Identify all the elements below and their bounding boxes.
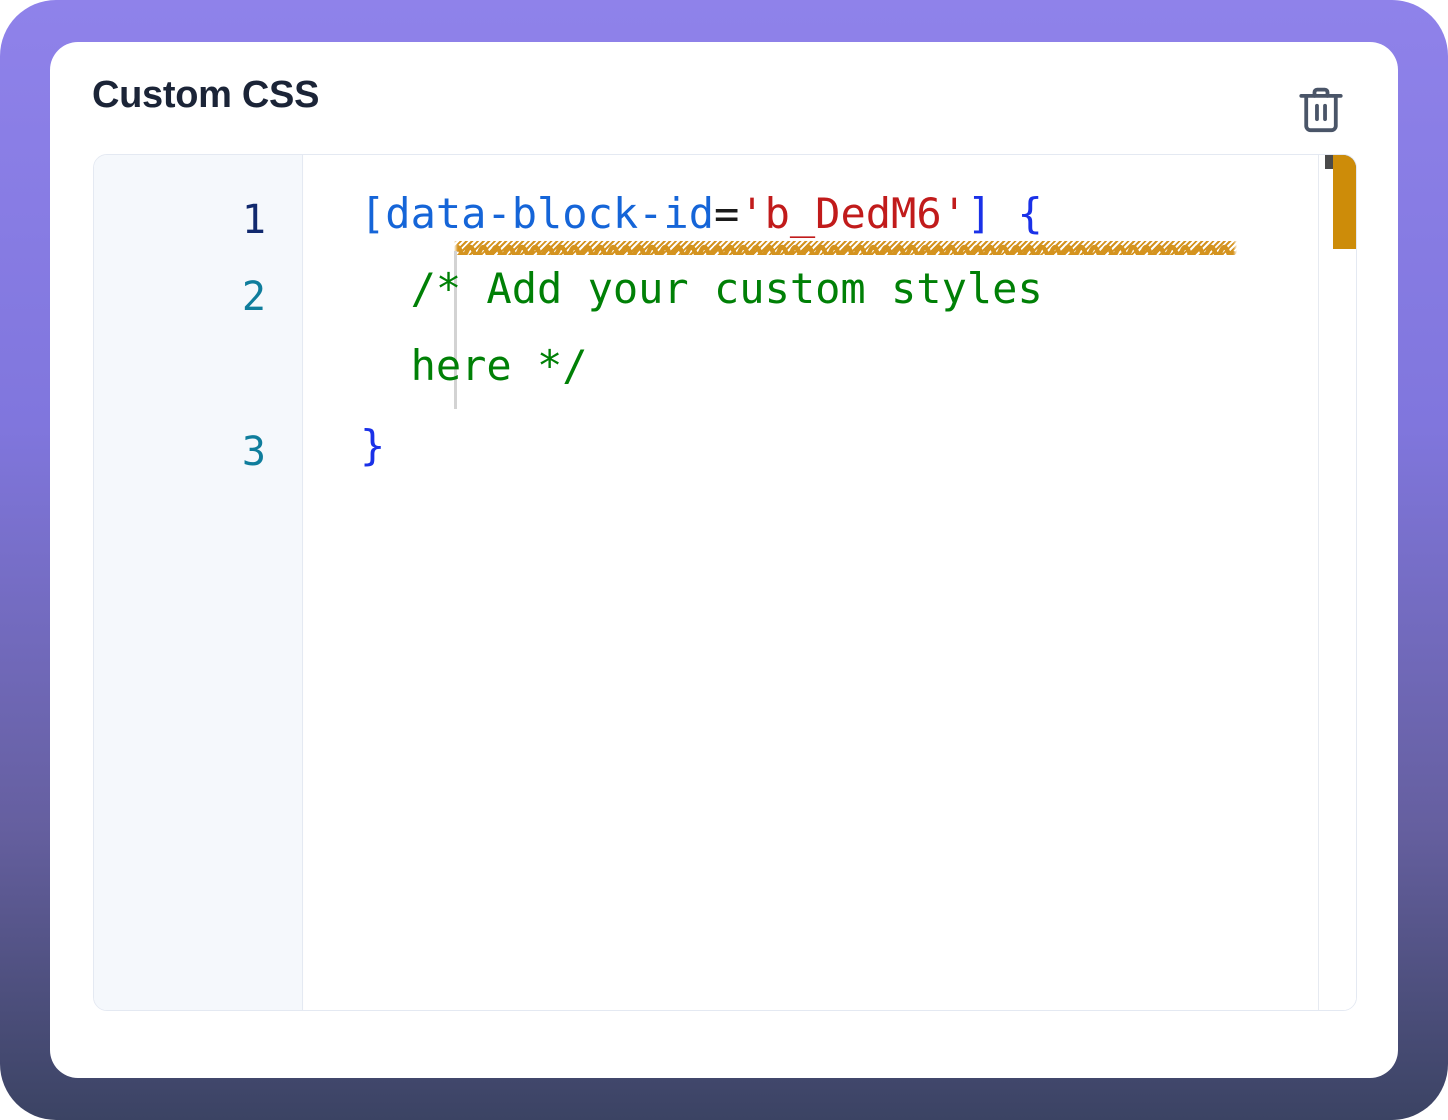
token-string: 'b_DedM6' [739, 189, 967, 238]
error-squiggle [454, 241, 1237, 255]
scrollbar-thumb[interactable] [1333, 155, 1357, 249]
editor-gutter: 1 2 3 [94, 155, 303, 1010]
page-title: Custom CSS [92, 74, 319, 117]
line-number-2: 2 [146, 277, 266, 317]
editor-scrollbar[interactable] [1318, 155, 1356, 1010]
token-attribute: [data-block-id [360, 189, 714, 238]
custom-css-panel: Custom CSS 1 2 3 [50, 42, 1398, 1078]
code-line-2[interactable]: /* Add your custom styles [360, 268, 1043, 310]
token-brace-close: } [360, 421, 385, 470]
code-line-3[interactable]: } [360, 425, 385, 467]
token-comment: here */ [360, 341, 588, 390]
panel-header: Custom CSS [50, 42, 1398, 154]
token-space [992, 189, 1017, 238]
delete-button[interactable] [1290, 80, 1352, 142]
token-bracket-close: ] [967, 189, 992, 238]
trash-icon [1294, 82, 1348, 141]
token-brace-open: { [1017, 189, 1042, 238]
editor-content[interactable]: [data-block-id='b_DedM6'] { /* Add your … [304, 155, 1356, 1010]
code-line-2-continuation[interactable]: here */ [360, 345, 588, 387]
token-comment: /* Add your custom styles [360, 264, 1043, 313]
line-number-3: 3 [146, 432, 266, 472]
code-line-1[interactable]: [data-block-id='b_DedM6'] { [360, 193, 1043, 235]
line-number-1: 1 [146, 200, 266, 240]
code-editor[interactable]: 1 2 3 [data-block-id='b_DedM6'] { /* Add… [93, 154, 1357, 1011]
token-equals: = [714, 189, 739, 238]
app-root: Custom CSS 1 2 3 [0, 0, 1448, 1120]
